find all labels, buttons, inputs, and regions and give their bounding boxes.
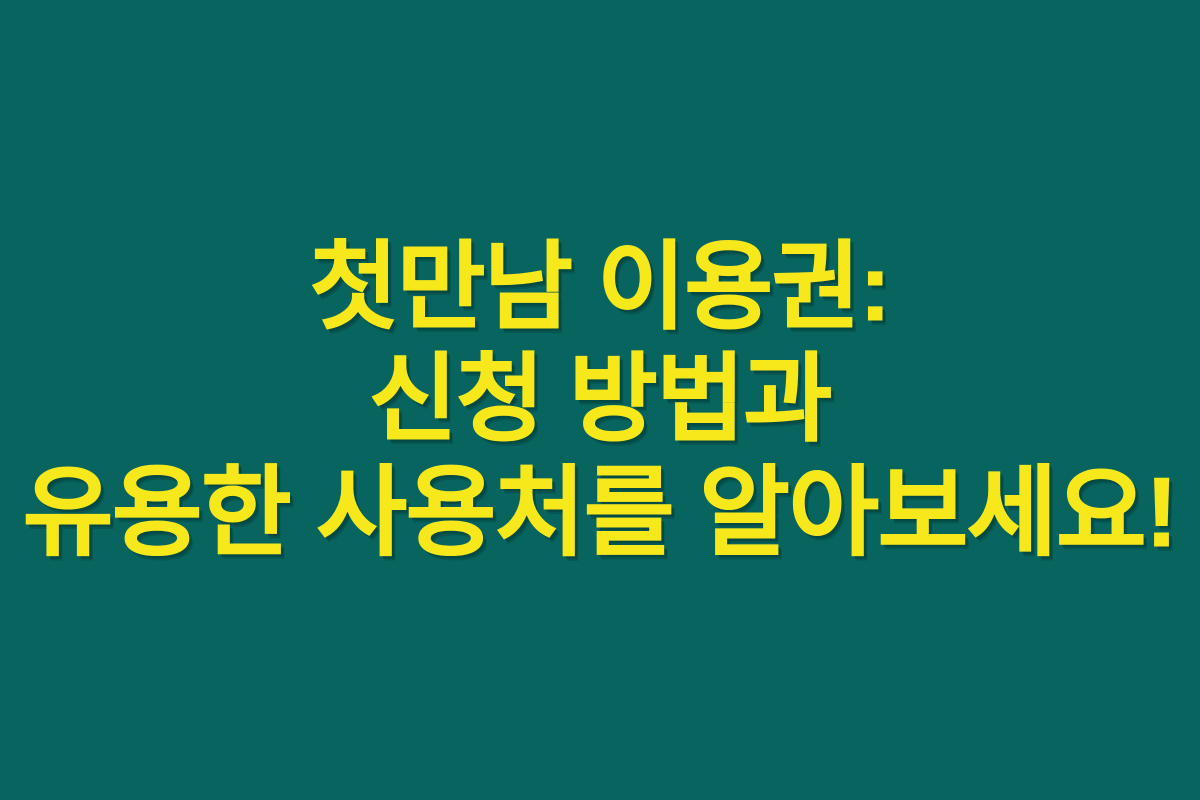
- headline-line-2: 신청 방법과: [6, 344, 1194, 456]
- headline-block: 첫만남 이용권: 신청 방법과 유용한 사용처를 알아보세요!: [0, 232, 1200, 568]
- banner-canvas: 첫만남 이용권: 신청 방법과 유용한 사용처를 알아보세요!: [0, 0, 1200, 800]
- headline-line-1: 첫만남 이용권:: [6, 232, 1194, 344]
- headline-line-3: 유용한 사용처를 알아보세요!: [6, 456, 1194, 568]
